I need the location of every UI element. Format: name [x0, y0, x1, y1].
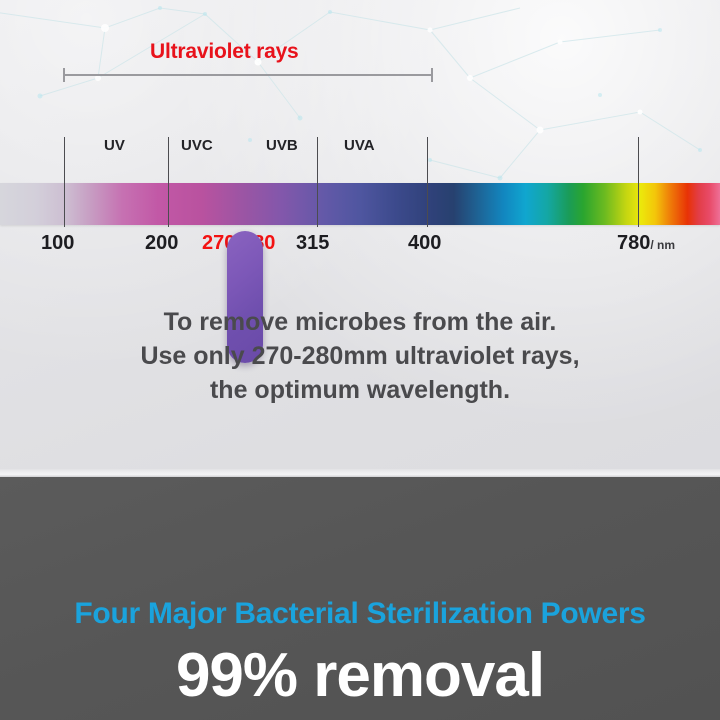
axis-label-315: 315 — [296, 232, 329, 255]
axis-label-400: 400 — [408, 232, 441, 255]
caption-line-3: the optimum wavelength. — [0, 373, 720, 407]
wavelength-spectrum-chart: UV UVC UVB UVA 100 200 270-280 315 400 7… — [0, 131, 720, 271]
bracket-bar — [63, 74, 433, 76]
removal-rate-headline: 99% removal — [0, 640, 720, 711]
uv-spectrum-panel: Ultraviolet rays UV UVC UVB UVA 100 200 — [0, 0, 720, 477]
caption-line-2: Use only 270-280mm ultraviolet rays, — [0, 339, 720, 373]
axis-label-100: 100 — [41, 232, 74, 255]
section-divider — [0, 469, 720, 477]
tick-200 — [168, 137, 169, 227]
tick-315 — [317, 137, 318, 227]
axis-label-780: 780/ nm — [617, 232, 675, 255]
axis-unit-nm: / nm — [650, 238, 675, 252]
caption-block: To remove microbes from the air. Use onl… — [0, 305, 720, 407]
band-label-uv: UV — [104, 137, 125, 154]
uv-range-bracket — [63, 68, 433, 82]
band-label-uvb: UVB — [266, 137, 298, 154]
bracket-cap-right — [431, 68, 433, 82]
tick-100 — [64, 137, 65, 227]
caption-line-1: To remove microbes from the air. — [0, 305, 720, 339]
spectrum-gradient-bar — [0, 183, 720, 225]
tick-780 — [638, 137, 639, 227]
sterilization-panel: Four Major Bacterial Sterilization Power… — [0, 477, 720, 720]
axis-label-200: 200 — [145, 232, 178, 255]
sterilization-title: Four Major Bacterial Sterilization Power… — [0, 597, 720, 631]
uv-rays-heading: Ultraviolet rays — [150, 40, 299, 64]
tick-400 — [427, 137, 428, 227]
axis-label-780-value: 780 — [617, 232, 650, 254]
infographic-page: Ultraviolet rays UV UVC UVB UVA 100 200 — [0, 0, 720, 720]
band-label-uvc: UVC — [181, 137, 213, 154]
band-label-uva: UVA — [344, 137, 375, 154]
